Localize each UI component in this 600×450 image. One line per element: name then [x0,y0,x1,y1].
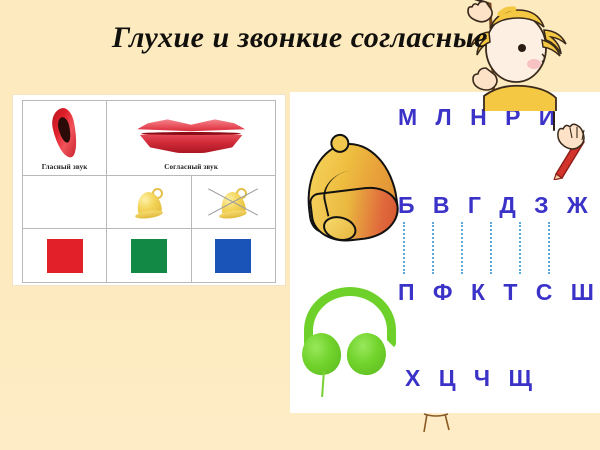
headphones-icon [300,287,404,397]
always-voiceless-consonants-row: Х Ц Ч Щ [405,365,538,392]
green-square [131,239,167,273]
table-row [23,176,276,229]
vowel-cell: Гласный звук [23,101,107,176]
red-square-cell [23,229,107,283]
voiced-consonants-row: Б В Г Д З Ж [398,192,594,219]
bell-icon [296,128,405,251]
closed-lips-icon [137,113,245,157]
consonant-cell: Согласный звук [107,101,276,176]
hand-with-red-pencil [548,108,600,180]
blue-square [215,239,251,273]
table-row: Гласный звук Согласный звук [23,101,276,176]
table-row [23,229,276,283]
vowel-label: Гласный звук [23,163,106,171]
left-white-panel: Гласный звук Согласный звук [13,95,285,285]
empty-cell [23,176,107,229]
green-square-cell [107,229,191,283]
slide-canvas: Глухие и звонкие согласные Гласный звук … [0,0,600,450]
voiceless-consonants-row: П Ф К Т С Ш [398,279,600,306]
bell-crossed-icon [218,185,248,219]
pair-connector-lines [398,222,578,274]
sound-classification-table: Гласный звук Согласный звук [22,100,276,283]
voiceless-bell-cell [191,176,275,229]
bell-icon [134,185,164,219]
page-title: Глухие и звонкие согласные [0,21,600,55]
red-square [47,239,83,273]
blue-square-cell [191,229,275,283]
cartoon-girl-with-pointer [456,0,576,111]
open-mouth-icon [52,108,78,160]
voiced-bell-cell [107,176,191,229]
decorative-doodle [418,412,454,436]
consonant-label: Согласный звук [107,163,275,171]
